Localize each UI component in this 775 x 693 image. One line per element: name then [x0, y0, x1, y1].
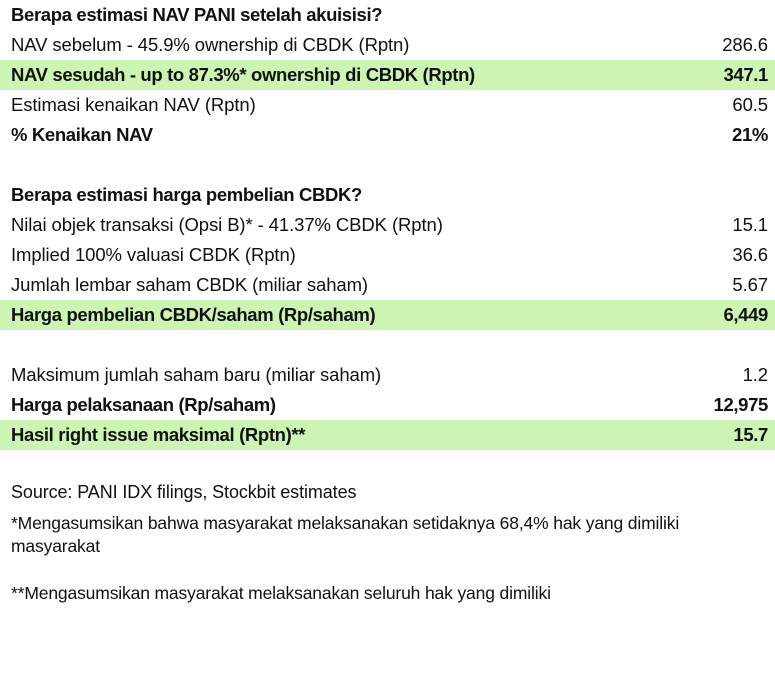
section-spacer	[0, 330, 775, 360]
table-row: Jumlah lembar saham CBDK (miliar saham) …	[0, 270, 775, 300]
row-label: NAV sesudah - up to 87.3%* ownership di …	[11, 66, 475, 85]
table-row: NAV sesudah - up to 87.3%* ownership di …	[0, 60, 775, 90]
row-value: 6,449	[723, 306, 768, 325]
nav-estimation-sheet: Berapa estimasi NAV PANI setelah akuisis…	[0, 0, 775, 693]
table-row: Harga pelaksanaan (Rp/saham) 12,975	[0, 390, 775, 420]
table-row: Estimasi kenaikan NAV (Rptn) 60.5	[0, 90, 775, 120]
section-heading-nav-text: Berapa estimasi NAV PANI setelah akuisis…	[11, 6, 382, 25]
table-row: NAV sebelum - 45.9% ownership di CBDK (R…	[0, 30, 775, 60]
table-row: Nilai objek transaksi (Opsi B)* - 41.37%…	[0, 210, 775, 240]
row-label: % Kenaikan NAV	[11, 126, 153, 145]
table-row: % Kenaikan NAV 21%	[0, 120, 775, 150]
row-value: 12,975	[714, 396, 768, 415]
row-value: 36.6	[732, 246, 768, 265]
row-label: Harga pelaksanaan (Rp/saham)	[11, 396, 276, 415]
section-heading-price: Berapa estimasi harga pembelian CBDK?	[0, 180, 775, 210]
footer-notes: Source: PANI IDX filings, Stockbit estim…	[0, 480, 775, 604]
row-label: Harga pembelian CBDK/saham (Rp/saham)	[11, 306, 375, 325]
section-heading-nav: Berapa estimasi NAV PANI setelah akuisis…	[0, 0, 775, 30]
row-value: 60.5	[732, 96, 768, 115]
row-value: 286.6	[722, 36, 768, 55]
table-row: Implied 100% valuasi CBDK (Rptn) 36.6	[0, 240, 775, 270]
table-row: Harga pembelian CBDK/saham (Rp/saham) 6,…	[0, 300, 775, 330]
row-value: 15.7	[733, 426, 768, 445]
row-label: Implied 100% valuasi CBDK (Rptn)	[11, 246, 296, 265]
footnote-single-star: *Mengasumsikan bahwa masyarakat melaksan…	[11, 512, 764, 557]
row-label: Hasil right issue maksimal (Rptn)**	[11, 426, 305, 445]
source-line: Source: PANI IDX filings, Stockbit estim…	[11, 480, 764, 504]
row-label: NAV sebelum - 45.9% ownership di CBDK (R…	[11, 36, 409, 55]
footnote-double-star: **Mengasumsikan masyarakat melaksanakan …	[11, 582, 764, 604]
row-value: 347.1	[723, 66, 768, 85]
table-row: Maksimum jumlah saham baru (miliar saham…	[0, 360, 775, 390]
table-row: Hasil right issue maksimal (Rptn)** 15.7	[0, 420, 775, 450]
row-value: 5.67	[732, 276, 768, 295]
section-spacer	[0, 150, 775, 180]
section-heading-price-text: Berapa estimasi harga pembelian CBDK?	[11, 186, 362, 205]
footer-spacer	[0, 450, 775, 480]
row-label: Maksimum jumlah saham baru (miliar saham…	[11, 366, 381, 385]
row-value: 15.1	[732, 216, 768, 235]
row-value: 1.2	[743, 366, 768, 385]
row-value: 21%	[732, 126, 768, 145]
row-label: Nilai objek transaksi (Opsi B)* - 41.37%…	[11, 216, 443, 235]
row-label: Estimasi kenaikan NAV (Rptn)	[11, 96, 256, 115]
row-label: Jumlah lembar saham CBDK (miliar saham)	[11, 276, 368, 295]
